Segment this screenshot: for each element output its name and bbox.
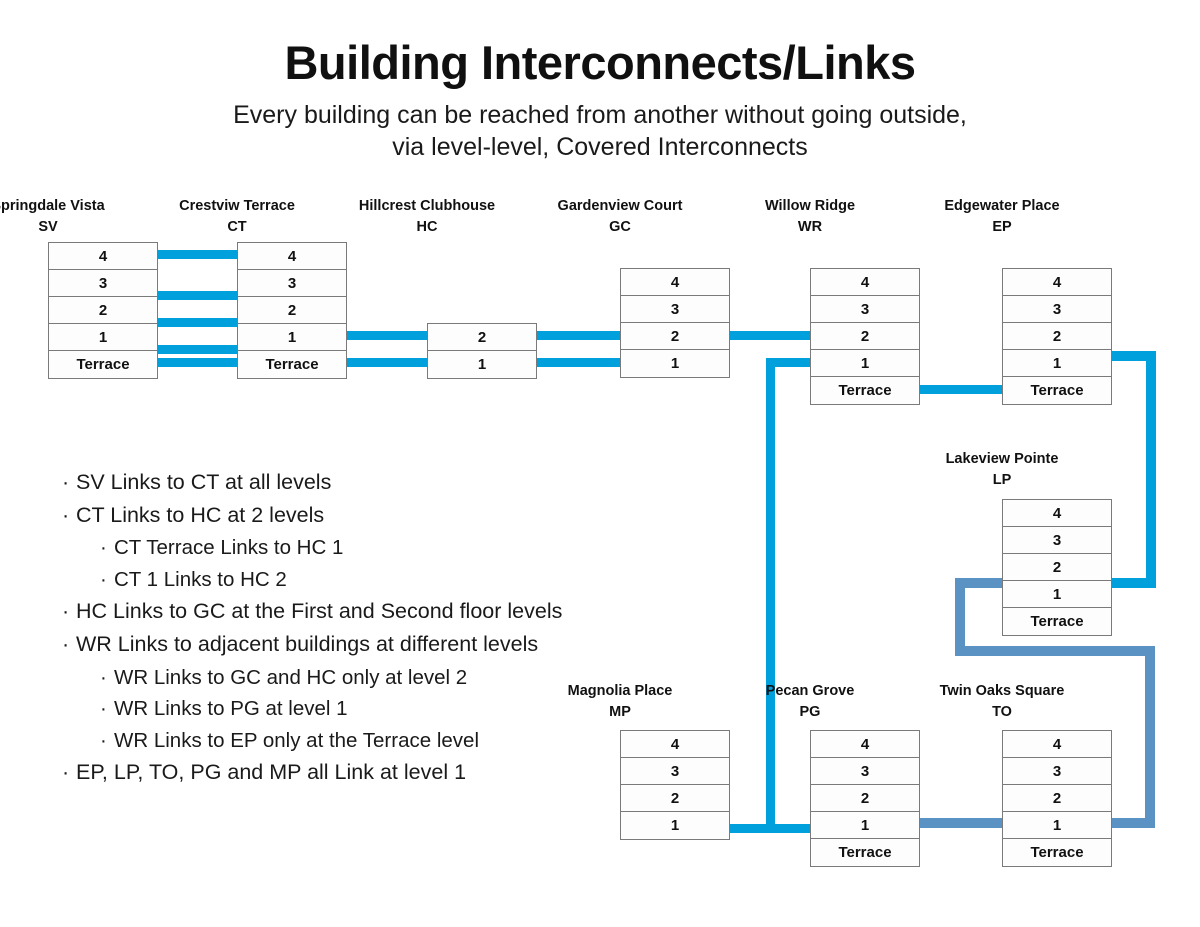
- floor-ep-terrace[interactable]: Terrace: [1003, 377, 1111, 404]
- building-pg-name: Pecan Grove: [766, 683, 855, 699]
- floor-pg-1[interactable]: 1: [811, 812, 919, 839]
- note-item: ·WR Links to EP only at the Terrace leve…: [62, 725, 682, 757]
- building-ep-label: Edgewater Place EP: [907, 196, 1097, 238]
- building-ct-name: Crestviw Terrace: [179, 198, 295, 214]
- bullet-glyph: ·: [100, 564, 114, 596]
- building-pg-label: Pecan Grove PG: [725, 681, 895, 723]
- note-text: HC Links to GC at the First and Second f…: [76, 599, 562, 623]
- bullet-glyph: ·: [100, 662, 114, 694]
- floor-to-4[interactable]: 4: [1003, 731, 1111, 758]
- bullet-glyph: ·: [62, 628, 76, 661]
- link-sv-ct-level3: [158, 291, 238, 300]
- building-wr-abbr: WR: [725, 217, 895, 238]
- note-text: EP, LP, TO, PG and MP all Link at level …: [76, 760, 466, 784]
- note-item: ·CT 1 Links to HC 2: [62, 564, 682, 596]
- link-sv-ct-terrace: [158, 358, 238, 367]
- building-wr-stack: 4 3 2 1 Terrace: [810, 268, 920, 405]
- floor-gc-1[interactable]: 1: [621, 350, 729, 377]
- building-pg-stack: 4 3 2 1 Terrace: [810, 730, 920, 867]
- note-item: ·HC Links to GC at the First and Second …: [62, 595, 682, 628]
- building-lp-stack: 4 3 2 1 Terrace: [1002, 499, 1112, 636]
- bullet-glyph: ·: [62, 756, 76, 789]
- slide-canvas: Building Interconnects/Links Every build…: [0, 0, 1200, 927]
- link-pg1-to1: [919, 818, 1003, 828]
- link-lp1-elbow-vertical-a: [955, 578, 965, 656]
- floor-ct-4[interactable]: 4: [238, 243, 346, 270]
- building-ep-stack: 4 3 2 1 Terrace: [1002, 268, 1112, 405]
- bullet-glyph: ·: [62, 595, 76, 628]
- link-sv-ct-level4: [158, 250, 238, 259]
- note-text: CT Terrace Links to HC 1: [114, 536, 343, 559]
- link-hc2-gc2: [537, 331, 621, 340]
- building-pg-abbr: PG: [725, 702, 895, 723]
- building-lp-name: Lakeview Pointe: [946, 451, 1059, 467]
- floor-lp-1[interactable]: 1: [1003, 581, 1111, 608]
- floor-pg-3[interactable]: 3: [811, 758, 919, 785]
- floor-sv-4[interactable]: 4: [49, 243, 157, 270]
- floor-gc-3[interactable]: 3: [621, 296, 729, 323]
- bullet-glyph: ·: [100, 532, 114, 564]
- floor-to-2[interactable]: 2: [1003, 785, 1111, 812]
- floor-ep-2[interactable]: 2: [1003, 323, 1111, 350]
- floor-to-3[interactable]: 3: [1003, 758, 1111, 785]
- building-to-stack: 4 3 2 1 Terrace: [1002, 730, 1112, 867]
- bullet-glyph: ·: [100, 725, 114, 757]
- note-text: SV Links to CT at all levels: [76, 470, 331, 494]
- bullet-glyph: ·: [100, 693, 114, 725]
- note-item: ·EP, LP, TO, PG and MP all Link at level…: [62, 756, 682, 789]
- link-wr1-elbow-vertical: [766, 358, 775, 833]
- floor-lp-2[interactable]: 2: [1003, 554, 1111, 581]
- building-hc-label: Hillcrest Clubhouse HC: [327, 196, 527, 238]
- building-hc-stack: 2 1: [427, 323, 537, 379]
- link-sv-ct-level1: [158, 345, 238, 354]
- building-ct-abbr: CT: [147, 217, 327, 238]
- building-to-name: Twin Oaks Square: [940, 683, 1065, 699]
- floor-lp-3[interactable]: 3: [1003, 527, 1111, 554]
- link-ct1-hc2: [346, 331, 428, 340]
- floor-hc-2[interactable]: 2: [428, 324, 536, 351]
- link-mp1-pg1: [729, 824, 811, 833]
- building-sv-name: Springdale Vista: [0, 198, 105, 214]
- note-item: ·CT Terrace Links to HC 1: [62, 532, 682, 564]
- floor-ct-terrace[interactable]: Terrace: [238, 351, 346, 378]
- link-ep1-elbow-vertical: [1146, 351, 1156, 588]
- building-to-label: Twin Oaks Square TO: [902, 681, 1102, 723]
- floor-to-1[interactable]: 1: [1003, 812, 1111, 839]
- building-hc-name: Hillcrest Clubhouse: [359, 198, 495, 214]
- note-item: ·WR Links to GC and HC only at level 2: [62, 662, 682, 694]
- floor-ct-1[interactable]: 1: [238, 324, 346, 351]
- link-hc1-gc1: [537, 358, 621, 367]
- floor-pg-2[interactable]: 2: [811, 785, 919, 812]
- floor-wr-2[interactable]: 2: [811, 323, 919, 350]
- page-subtitle: Every building can be reached from anoth…: [0, 99, 1200, 163]
- floor-ct-2[interactable]: 2: [238, 297, 346, 324]
- building-gc-abbr: GC: [525, 217, 715, 238]
- link-ctterrace-hc1: [346, 358, 428, 367]
- building-wr-name: Willow Ridge: [765, 198, 855, 214]
- link-lp1-elbow-vertical-b: [1145, 646, 1155, 828]
- note-text: CT 1 Links to HC 2: [114, 568, 287, 591]
- floor-wr-1[interactable]: 1: [811, 350, 919, 377]
- floor-wr-terrace[interactable]: Terrace: [811, 377, 919, 404]
- notes-list: ·SV Links to CT at all levels ·CT Links …: [62, 466, 682, 789]
- floor-ct-3[interactable]: 3: [238, 270, 346, 297]
- floor-sv-2[interactable]: 2: [49, 297, 157, 324]
- floor-sv-terrace[interactable]: Terrace: [49, 351, 157, 378]
- building-lp-label: Lakeview Pointe LP: [907, 449, 1097, 491]
- link-wrterrace-epterrace: [919, 385, 1003, 394]
- floor-pg-4[interactable]: 4: [811, 731, 919, 758]
- note-item: ·SV Links to CT at all levels: [62, 466, 682, 499]
- notes-panel: ·SV Links to CT at all levels ·CT Links …: [62, 466, 682, 789]
- note-text: WR Links to EP only at the Terrace level: [114, 729, 479, 752]
- building-sv-stack: 4 3 2 1 Terrace: [48, 242, 158, 379]
- note-text: CT Links to HC at 2 levels: [76, 503, 324, 527]
- building-wr-label: Willow Ridge WR: [725, 196, 895, 238]
- link-lp1-elbow-horizontal-b: [955, 646, 1155, 656]
- note-item: ·WR Links to PG at level 1: [62, 693, 682, 725]
- floor-pg-terrace[interactable]: Terrace: [811, 839, 919, 866]
- floor-gc-2[interactable]: 2: [621, 323, 729, 350]
- link-ep1-elbow-horizontal-bottom: [1111, 578, 1156, 588]
- note-text: WR Links to PG at level 1: [114, 697, 348, 720]
- floor-ep-4[interactable]: 4: [1003, 269, 1111, 296]
- floor-ep-3[interactable]: 3: [1003, 296, 1111, 323]
- note-item: ·WR Links to adjacent buildings at diffe…: [62, 628, 682, 661]
- building-ct-label: Crestviw Terrace CT: [147, 196, 327, 238]
- note-text: WR Links to GC and HC only at level 2: [114, 666, 467, 689]
- building-gc-label: Gardenview Court GC: [525, 196, 715, 238]
- subtitle-line-1: Every building can be reached from anoth…: [0, 99, 1200, 131]
- floor-lp-terrace[interactable]: Terrace: [1003, 608, 1111, 635]
- building-sv-abbr: SV: [0, 217, 138, 238]
- building-sv-label: Springdale Vista SV: [0, 196, 138, 238]
- floor-sv-1[interactable]: 1: [49, 324, 157, 351]
- building-hc-abbr: HC: [327, 217, 527, 238]
- link-sv-ct-level2: [158, 318, 238, 327]
- floor-mp-1[interactable]: 1: [621, 812, 729, 839]
- building-lp-abbr: LP: [907, 470, 1097, 491]
- bullet-glyph: ·: [62, 499, 76, 532]
- floor-hc-1[interactable]: 1: [428, 351, 536, 378]
- floor-to-terrace[interactable]: Terrace: [1003, 839, 1111, 866]
- floor-lp-4[interactable]: 4: [1003, 500, 1111, 527]
- link-lp1-elbow-horizontal-c: [1111, 818, 1155, 828]
- floor-wr-4[interactable]: 4: [811, 269, 919, 296]
- page-title: Building Interconnects/Links: [0, 38, 1200, 87]
- building-ep-name: Edgewater Place: [944, 198, 1059, 214]
- building-ep-abbr: EP: [907, 217, 1097, 238]
- floor-gc-4[interactable]: 4: [621, 269, 729, 296]
- bullet-glyph: ·: [62, 466, 76, 499]
- building-ct-stack: 4 3 2 1 Terrace: [237, 242, 347, 379]
- note-text: WR Links to adjacent buildings at differ…: [76, 632, 538, 656]
- link-gc2-wr2: [729, 331, 811, 340]
- subtitle-line-2: via level-level, Covered Interconnects: [0, 131, 1200, 163]
- floor-wr-3[interactable]: 3: [811, 296, 919, 323]
- floor-sv-3[interactable]: 3: [49, 270, 157, 297]
- building-gc-stack: 4 3 2 1: [620, 268, 730, 378]
- building-to-abbr: TO: [902, 702, 1102, 723]
- floor-ep-1[interactable]: 1: [1003, 350, 1111, 377]
- note-item: ·CT Links to HC at 2 levels: [62, 499, 682, 532]
- building-gc-name: Gardenview Court: [558, 198, 683, 214]
